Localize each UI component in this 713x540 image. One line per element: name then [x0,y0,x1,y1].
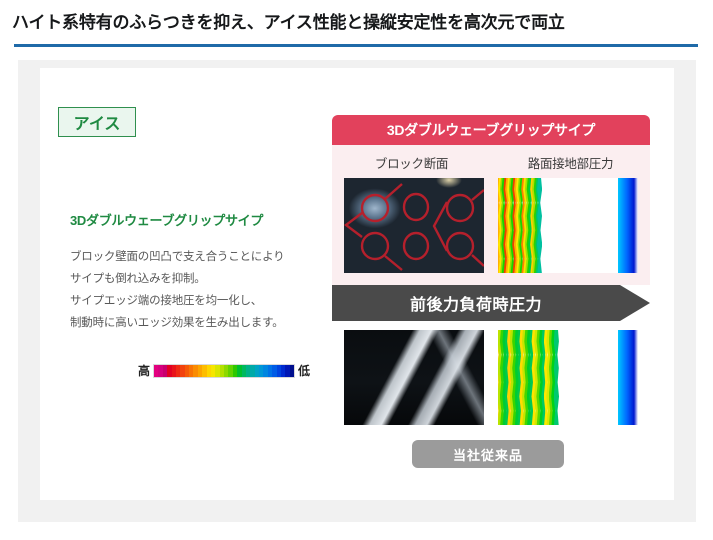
conventional-block-photo [344,330,484,425]
column-label-block-section: ブロック断面 [332,153,491,172]
title-divider [14,44,698,47]
page-root: ハイト系特有のふらつきを抑え、アイス性能と操縦安定性を高次元で両立 アイス 3D… [0,0,713,540]
feature-description-line-0: ブロック壁面の凹凸で支え合うことにより [70,246,330,268]
scale-low-label: 低 [298,362,310,379]
column-label-road-pressure: 路面接地部圧力 [491,153,650,172]
legacy-product-label: 当社従来品 [412,440,564,468]
ice-badge: アイス [58,107,136,137]
new-product-row [332,178,650,273]
heatmap-edge-bottom [618,330,638,425]
scale-gradient-bar [153,364,295,378]
banner-label: 前後力負荷時圧力 [332,285,620,321]
feature-title: 3Dダブルウェーブグリップサイプ [70,210,263,229]
feature-description-line-3: 制動時に高いエッジ効果を生み出します。 [70,312,330,334]
conventional-product-row [332,330,650,425]
heatmap-bands-bottom [498,330,638,425]
banner-arrow-tip [620,285,650,321]
new-product-pressure-map [498,178,638,273]
comparison-column-labels: ブロック断面 路面接地部圧力 [332,153,650,172]
page-title: ハイト系特有のふらつきを抑え、アイス性能と操縦安定性を高次元で両立 [12,8,565,33]
feature-description: ブロック壁面の凹凸で支え合うことによりサイプも倒れ込みを抑制。サイプエッジ端の接… [70,246,330,334]
load-pressure-banner: 前後力負荷時圧力 [332,285,650,321]
conventional-pressure-map [498,330,638,425]
feature-description-line-2: サイプエッジ端の接地圧を均一化し、 [70,290,330,312]
comparison-header: 3Dダブルウェーブグリップサイプ [332,115,650,145]
red-annotation-overlay [344,178,484,273]
feature-description-line-1: サイプも倒れ込みを抑制。 [70,268,330,290]
scale-high-label: 高 [138,362,150,379]
heatmap-edge-top [618,178,638,273]
heatmap-bands-top [498,178,638,273]
scale-segment [290,365,294,377]
block-cross-section-photo [344,178,484,273]
pressure-scale: 高 低 [138,362,310,379]
